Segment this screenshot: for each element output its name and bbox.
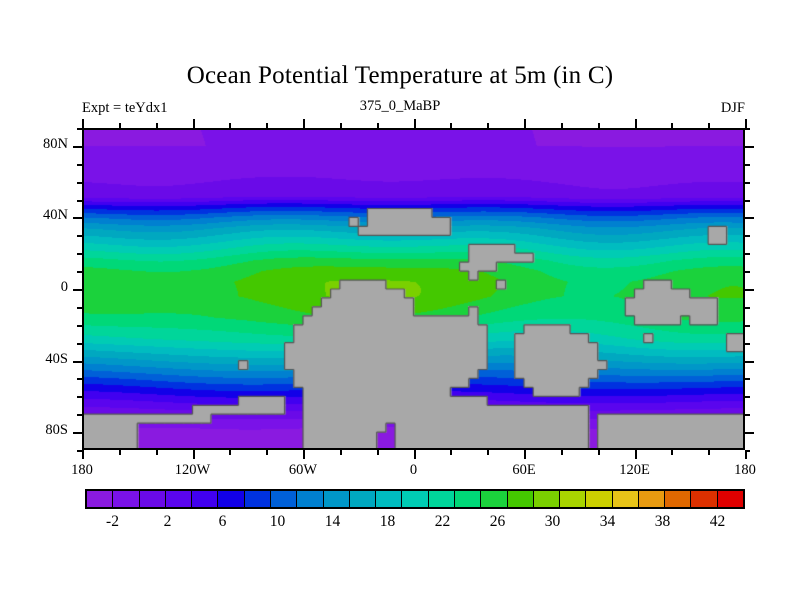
x-tick-minor [229,450,231,455]
y-tick-minor [77,325,82,327]
colorbar-cell [639,491,665,507]
colorbar-cell [455,491,481,507]
x-tick-minor [671,450,673,455]
colorbar-cell [718,491,743,507]
x-tick-minor-top [303,119,305,128]
colorbar-cell [376,491,402,507]
colorbar-tick-label: 42 [688,513,748,531]
y-axis-label: 40N [4,207,68,224]
colorbar-cell [271,491,297,507]
y-axis-label: 80S [4,422,68,439]
colorbar-tick-label: 22 [413,513,473,531]
y-tick-minor [77,378,82,380]
x-tick-minor-top [119,123,121,128]
y-tick-minor [73,361,82,363]
y-tick-minor [77,200,82,202]
x-axis-label: 180 [42,462,122,479]
colorbar-tick-label: 38 [633,513,693,531]
y-tick-minor [73,289,82,291]
x-axis-label: 120W [153,462,233,479]
colorbar-cell [87,491,113,507]
y-tick-minor-right [745,378,750,380]
colorbar-tick-label: 14 [303,513,363,531]
y-tick-minor-right [745,235,750,237]
colorbar-cell [192,491,218,507]
figure-canvas: Ocean Potential Temperature at 5m (in C)… [0,0,800,600]
y-tick-minor [73,217,82,219]
colorbar-tick-label: -2 [83,513,143,531]
y-tick-minor-right [745,343,750,345]
x-tick-minor-top [524,119,526,128]
colorbar[interactable] [85,489,745,509]
map-plot-area [82,128,745,450]
y-tick-minor-right [745,182,750,184]
colorbar-cell [166,491,192,507]
y-tick-minor [77,396,82,398]
colorbar-tick-label: 6 [193,513,253,531]
x-tick-minor-top [82,119,84,128]
y-tick-minor [73,432,82,434]
colorbar-cell [350,491,376,507]
x-tick-minor [635,450,637,459]
colorbar-tick-label: 2 [138,513,198,531]
y-tick-minor [77,307,82,309]
y-tick-minor-right [745,164,750,166]
x-axis-label: 60W [263,462,343,479]
x-tick-minor-top [635,119,637,128]
colorbar-cell [560,491,586,507]
y-tick-minor-right [745,361,754,363]
colorbar-cell [665,491,691,507]
y-tick-minor-right [745,414,750,416]
temperature-field [82,128,745,450]
colorbar-cell [534,491,560,507]
x-tick-minor-top [708,123,710,128]
y-tick-minor [77,235,82,237]
colorbar-tick-label: 34 [578,513,638,531]
y-tick-minor-right [745,217,754,219]
y-axis-label: 80N [4,136,68,153]
y-axis-label: 40S [4,351,68,368]
x-axis-label: 180 [705,462,785,479]
x-axis-label: 0 [374,462,454,479]
y-tick-minor-right [745,271,750,273]
x-tick-minor-top [745,119,747,128]
colorbar-cell [508,491,534,507]
y-tick-minor-right [745,253,750,255]
colorbar-cell [245,491,271,507]
y-tick-minor [77,253,82,255]
colorbar-cell [586,491,612,507]
colorbar-cell [297,491,323,507]
x-tick-minor [414,450,416,459]
x-tick-minor [193,450,195,459]
colorbar-tick-label: 30 [523,513,583,531]
x-tick-minor-top [377,123,379,128]
x-tick-minor-top [414,119,416,128]
x-tick-minor-top [598,123,600,128]
colorbar-cell [481,491,507,507]
x-tick-minor [561,450,563,455]
colorbar-cell [402,491,428,507]
x-tick-minor [450,450,452,455]
y-tick-minor-right [745,128,750,130]
x-tick-minor [266,450,268,455]
y-tick-minor-right [745,200,750,202]
x-tick-minor [156,450,158,455]
y-tick-minor [77,343,82,345]
figure-title: Ocean Potential Temperature at 5m (in C) [0,62,800,90]
x-tick-minor [487,450,489,455]
x-tick-minor-top [193,119,195,128]
colorbar-cell [113,491,139,507]
season-label: DJF [721,100,745,117]
x-tick-minor [524,450,526,459]
x-axis-label: 60E [484,462,564,479]
x-tick-minor [377,450,379,455]
y-tick-minor [77,128,82,130]
y-tick-minor-right [745,289,754,291]
x-tick-minor [119,450,121,455]
x-tick-minor [598,450,600,455]
y-tick-minor-right [745,396,750,398]
x-tick-minor-top [487,123,489,128]
x-tick-minor-top [561,123,563,128]
y-tick-minor [77,182,82,184]
x-tick-minor-top [266,123,268,128]
colorbar-tick-label: 18 [358,513,418,531]
y-tick-minor-right [745,146,754,148]
y-tick-minor-right [745,307,750,309]
y-tick-minor [73,146,82,148]
x-tick-minor-top [229,123,231,128]
colorbar-cell [613,491,639,507]
x-axis-label: 120E [595,462,675,479]
colorbar-cell [429,491,455,507]
colorbar-cell [218,491,244,507]
x-tick-minor [303,450,305,459]
y-tick-minor-right [745,325,750,327]
y-tick-minor [77,450,82,452]
x-tick-minor-top [340,123,342,128]
y-tick-minor [77,414,82,416]
x-tick-minor-top [156,123,158,128]
y-tick-minor [77,164,82,166]
x-tick-minor [708,450,710,455]
colorbar-tick-label: 26 [468,513,528,531]
colorbar-cell [324,491,350,507]
colorbar-cell [691,491,717,507]
x-tick-minor [82,450,84,459]
y-tick-minor-right [745,432,754,434]
y-tick-minor [77,271,82,273]
x-tick-minor-top [671,123,673,128]
y-tick-minor-right [745,450,750,452]
x-tick-minor [340,450,342,455]
x-tick-minor-top [450,123,452,128]
colorbar-cell [140,491,166,507]
y-axis-label: 0 [4,279,68,296]
period-label: 375_0_MaBP [0,98,800,115]
colorbar-tick-label: 10 [248,513,308,531]
